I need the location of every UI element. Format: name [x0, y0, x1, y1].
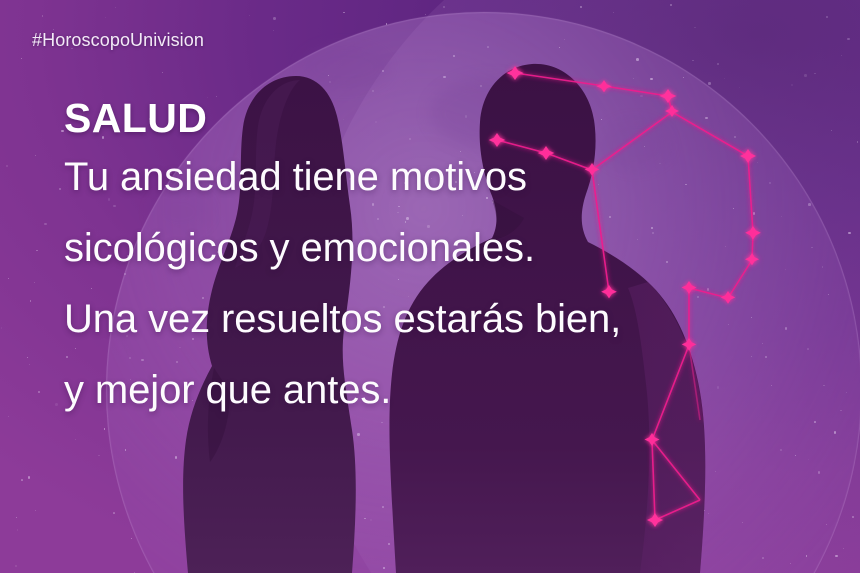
copy-block: SALUD Tu ansiedad tiene motivos sicológi… [64, 94, 834, 426]
body-line-2: sicológicos y emocionales. [64, 213, 834, 284]
hashtag-label: #HoroscopoUnivision [32, 30, 204, 51]
body-line-1: Tu ansiedad tiene motivos [64, 142, 834, 213]
horoscope-card: #HoroscopoUnivision SALUD Tu ansiedad ti… [0, 0, 860, 573]
body-line-4: y mejor que antes. [64, 355, 834, 426]
page-title: SALUD [64, 94, 834, 142]
body-line-3: Una vez resueltos estarás bien, [64, 284, 834, 355]
